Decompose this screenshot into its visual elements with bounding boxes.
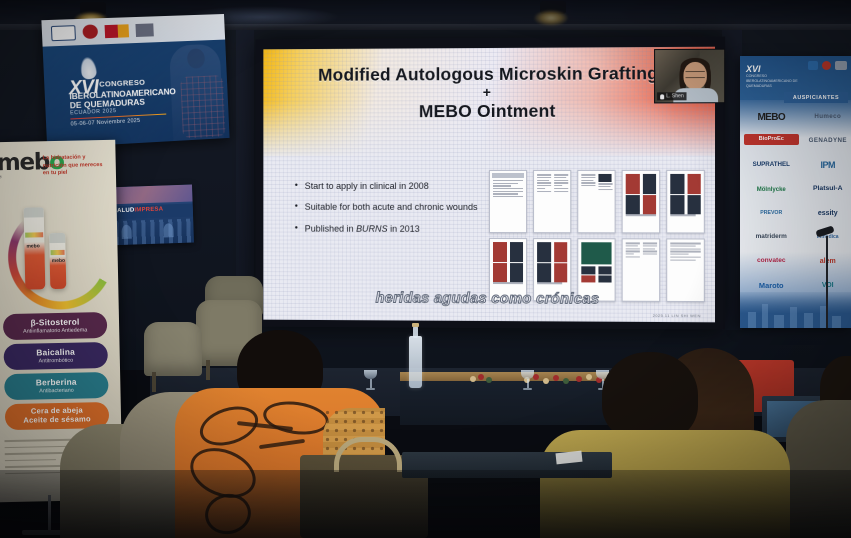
flame-seal-logo-icon bbox=[82, 24, 98, 39]
slide-watermark: 2025.11 LIN SHI WEN bbox=[653, 313, 701, 318]
tube-label: mebo bbox=[26, 243, 39, 249]
slide-bullet-list: • Start to apply in clinical in 2008 • S… bbox=[295, 180, 483, 244]
paper-thumbnail bbox=[489, 170, 527, 233]
webcam-video-thumbnail[interactable]: L. Shen bbox=[654, 49, 725, 104]
sponsor-logo-suprathel: SUPRATHEL bbox=[744, 158, 799, 173]
paper-thumbnail bbox=[666, 170, 705, 234]
sponsor-logo-genadyne: GENADYNE bbox=[801, 134, 851, 149]
sponsor-logo-platsul: Platsul-A bbox=[801, 182, 851, 197]
sponsor-logo-maroto: Maroto bbox=[744, 278, 799, 293]
spotlight-glow bbox=[534, 10, 568, 26]
bullet-text: Published in BURNS in 2013 bbox=[305, 222, 420, 235]
skyline-dome bbox=[121, 225, 131, 239]
sponsor-logo-essity: essity bbox=[801, 206, 851, 221]
bullet-marker: • bbox=[295, 201, 298, 213]
slide-title-line1: Modified Autologous Microskin Grafting bbox=[318, 63, 658, 85]
slide-script-text: heridas agudas como crónicas bbox=[263, 290, 715, 308]
sponsor-numeral: XVI bbox=[746, 64, 761, 74]
bullet-text-journal: BURNS bbox=[356, 223, 388, 233]
sponsor-logo-ipm: IPM bbox=[801, 158, 851, 173]
slide-title-line2: MEBO Ointment bbox=[263, 100, 715, 123]
sponsors-heading: AUSPICIANTES bbox=[784, 92, 848, 103]
partner-logo-icon bbox=[135, 23, 153, 37]
society-logo-icon bbox=[51, 25, 76, 41]
sponsor-skyline bbox=[740, 292, 851, 328]
sponsor-logo-convatec: convatec bbox=[744, 254, 799, 269]
sponsor-logo-humeco: Humeco bbox=[801, 110, 851, 125]
participant-name-badge: L. Shen bbox=[657, 92, 687, 100]
sponsor-logo-bioproec: BioProEc bbox=[744, 134, 799, 145]
bottle-cap bbox=[412, 323, 419, 327]
registered-mark: ® bbox=[0, 174, 2, 179]
water-bottle bbox=[409, 336, 422, 388]
ingredient-effect: Antitrombótico bbox=[4, 357, 108, 365]
tube-cap bbox=[49, 233, 65, 243]
bullet-text-suffix: in 2013 bbox=[388, 224, 420, 234]
sponsor-logo-molnlycke: Mölnlycke bbox=[744, 182, 799, 197]
congress-logo-strip bbox=[41, 14, 229, 47]
mebo-large-tube: mebo bbox=[24, 207, 46, 289]
participant-name: L. Shen bbox=[666, 92, 684, 100]
bullet-text: Suitable for both acute and chronic woun… bbox=[305, 201, 478, 213]
congress-country-year: ECUADOR 2025 bbox=[70, 108, 117, 116]
microphone-stand bbox=[826, 236, 828, 328]
skyline-silhouette bbox=[105, 218, 194, 245]
bullet-marker: • bbox=[295, 180, 298, 192]
eyeglasses-icon bbox=[686, 71, 705, 78]
sponsor-logo-prevor: PREVOR bbox=[744, 206, 799, 221]
mebo-small-tube: mebo bbox=[49, 233, 66, 289]
bullet-marker: • bbox=[295, 222, 298, 234]
mebo-tagline: La hidratación y nutrición que mereces e… bbox=[43, 154, 107, 178]
banner-photo-area bbox=[104, 184, 193, 204]
ingredient-effect: Aceite de sésamo bbox=[5, 415, 109, 426]
microphone-icon bbox=[660, 94, 664, 99]
partner-logo-icon bbox=[835, 61, 847, 70]
bag-handle bbox=[334, 437, 402, 472]
slide-title-plus: + bbox=[263, 85, 715, 100]
banner-brand-right: IMPRESA bbox=[134, 207, 163, 214]
sponsor-logo-matriderm: matriderm bbox=[744, 230, 799, 245]
bottle-neck bbox=[413, 326, 418, 338]
sponsor-subtitle: CONGRESO IBEROLATINOAMERICANO DE QUEMADU… bbox=[746, 74, 798, 89]
congress-led-banner: XVI CONGRESO IBEROLATINOAMERICANO DE QUE… bbox=[41, 14, 229, 148]
publication-thumbnail-grid bbox=[489, 170, 705, 302]
ingredient-pill: Baicalina Antitrombótico bbox=[3, 342, 108, 370]
partner-logo-icon bbox=[808, 61, 818, 70]
flame-seal-logo-icon bbox=[822, 61, 831, 70]
tube-stripe bbox=[51, 250, 65, 255]
attendee-head bbox=[602, 352, 698, 442]
bullet-item: • Published in BURNS in 2013 bbox=[295, 222, 483, 235]
paper-thumbnail bbox=[622, 170, 660, 233]
paper-thumbnail bbox=[577, 170, 615, 233]
bullet-text-prefix: Published in bbox=[305, 223, 356, 233]
sponsor-logo-mebo: MEBO bbox=[744, 110, 799, 125]
skyline-dome bbox=[163, 223, 173, 237]
sponsor-header-logos bbox=[808, 61, 847, 70]
tube-label: mebo bbox=[52, 257, 65, 263]
ingredient-effect: Antiinflamatorio Antiedema bbox=[3, 327, 107, 335]
banner-figure-pattern bbox=[180, 75, 225, 138]
wine-glass bbox=[521, 370, 534, 391]
ingredient-pill: β-Sitosterol Antiinflamatorio Antiedema bbox=[3, 312, 108, 340]
secondary-banner: SALUDIMPRESA bbox=[104, 184, 194, 245]
presentation-slide: Modified Autologous Microskin Grafting +… bbox=[263, 47, 715, 323]
projection-screen: Modified Autologous Microskin Grafting +… bbox=[256, 37, 726, 330]
paper-thumbnail bbox=[533, 170, 571, 233]
conference-photo-scene: Modified Autologous Microskin Grafting +… bbox=[0, 0, 851, 538]
bullet-item: • Suitable for both acute and chronic wo… bbox=[295, 201, 483, 214]
sponsor-backdrop-banner: XVI CONGRESO IBEROLATINOAMERICANO DE QUE… bbox=[740, 56, 851, 328]
ingredient-pill: Berberina Antibacteriano bbox=[4, 372, 109, 400]
sponsor-logo-grid: MEBO Humeco BioProEc GENADYNE SUPRATHEL … bbox=[740, 104, 851, 299]
bullet-item: • Start to apply in clinical in 2008 bbox=[295, 180, 483, 192]
tube-stripe bbox=[25, 232, 43, 237]
slide-title: Modified Autologous Microskin Grafting +… bbox=[263, 63, 715, 123]
flag-logo-icon bbox=[105, 24, 130, 38]
tube-cap bbox=[24, 207, 44, 217]
floral-centerpiece bbox=[470, 374, 496, 386]
foreground-shadow bbox=[0, 470, 851, 538]
bullet-text: Start to apply in clinical in 2008 bbox=[305, 180, 429, 192]
ingredient-effect: Antibacteriano bbox=[4, 387, 108, 395]
chair-leg bbox=[152, 372, 156, 392]
